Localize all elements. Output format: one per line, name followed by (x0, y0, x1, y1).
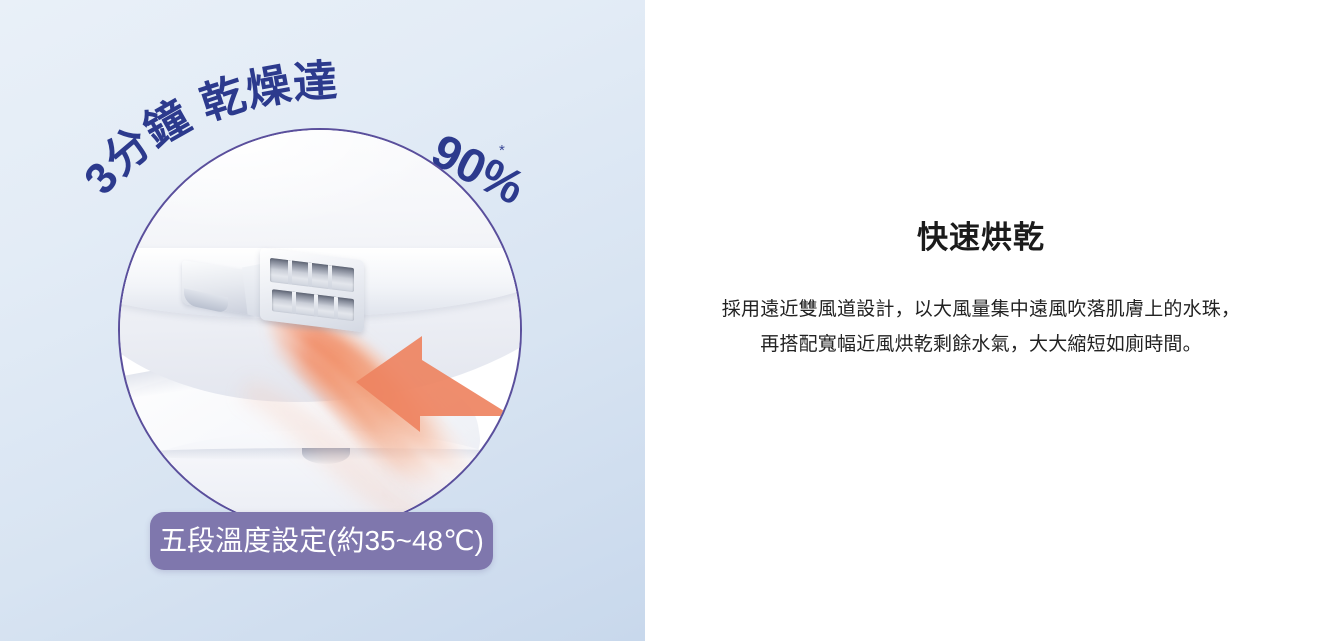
product-photo-circle (118, 128, 522, 532)
product-photo-inner (120, 130, 520, 530)
feature-description-line-1: 採用遠近雙風道設計，以大風量集中遠風吹落肌膚上的水珠， (691, 292, 1271, 327)
dual-air-duct-nozzle (182, 252, 382, 334)
product-visual-panel: 3分鐘 乾燥達 90% * (0, 0, 645, 641)
feature-description: 採用遠近雙風道設計，以大風量集中遠風吹落肌膚上的水珠， 再搭配寬幅近風烘乾剩餘水… (691, 292, 1271, 362)
vent-slat (288, 260, 292, 284)
feature-text-panel: 快速烘乾 採用遠近雙風道設計，以大風量集中遠風吹落肌膚上的水珠， 再搭配寬幅近風… (645, 0, 1318, 641)
vent-upper-shade (270, 258, 354, 279)
nozzle-vent-upper (270, 258, 354, 292)
vent-slat (334, 297, 338, 319)
product-feature-panel: 3分鐘 乾燥達 90% * (0, 0, 1318, 641)
nozzle-vent-lower (272, 289, 354, 321)
temperature-setting-badge: 五段溫度設定(約35~48℃) (150, 512, 493, 570)
nozzle-vent-housing (260, 248, 364, 333)
vent-lower-shade (272, 289, 354, 309)
feature-title: 快速烘乾 (691, 219, 1271, 258)
feature-text-block: 快速烘乾 採用遠近雙風道設計，以大風量集中遠風吹落肌膚上的水珠， 再搭配寬幅近風… (691, 219, 1271, 362)
vent-slat (314, 294, 318, 316)
feature-description-line-2: 再搭配寬幅近風烘乾剩餘水氣，大大縮短如廁時間。 (691, 327, 1271, 362)
vent-slat (328, 265, 332, 289)
vent-slat (308, 263, 312, 287)
temperature-setting-label: 五段溫度設定(約35~48℃) (159, 527, 484, 555)
vent-slat (292, 292, 296, 314)
